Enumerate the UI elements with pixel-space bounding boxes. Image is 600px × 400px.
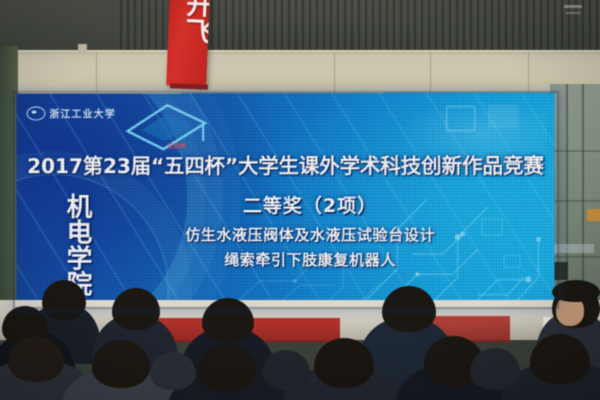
person-head <box>92 340 150 388</box>
wall-highlight-strip <box>566 12 580 14</box>
audience-crowd <box>0 240 600 400</box>
facade-horizontal-band <box>550 200 600 202</box>
facade-orange-panel <box>587 209 600 221</box>
red-banner-text: 开飞 <box>168 0 210 45</box>
university-emblem-icon <box>27 106 46 120</box>
person-head <box>150 352 196 390</box>
person-head <box>8 336 64 382</box>
person-head <box>382 286 436 332</box>
photo-scene: 开飞 <box>0 0 600 400</box>
slide-main-title: 2017第23届“五四杯”大学生课外学术科技创新作品竞赛 <box>17 149 555 179</box>
red-banner: 开飞 <box>166 0 210 87</box>
person-hair <box>552 280 600 302</box>
person-head <box>112 288 160 330</box>
facade-horizontal-band <box>550 150 600 152</box>
person-head <box>530 334 590 384</box>
person-head <box>262 350 310 390</box>
wall-nub <box>78 44 87 53</box>
person-head <box>198 344 256 392</box>
person-head <box>42 280 86 320</box>
university-logo-text: 浙江工业大学 <box>49 105 116 120</box>
person-head <box>470 348 520 390</box>
award-heading: 二等奖（2项） <box>116 191 506 218</box>
person-head <box>202 298 254 342</box>
wall-ledge <box>0 50 600 54</box>
wall-highlight-strip <box>564 5 582 8</box>
person-head <box>314 338 374 388</box>
university-logo: 浙江工业大学 <box>27 105 116 120</box>
